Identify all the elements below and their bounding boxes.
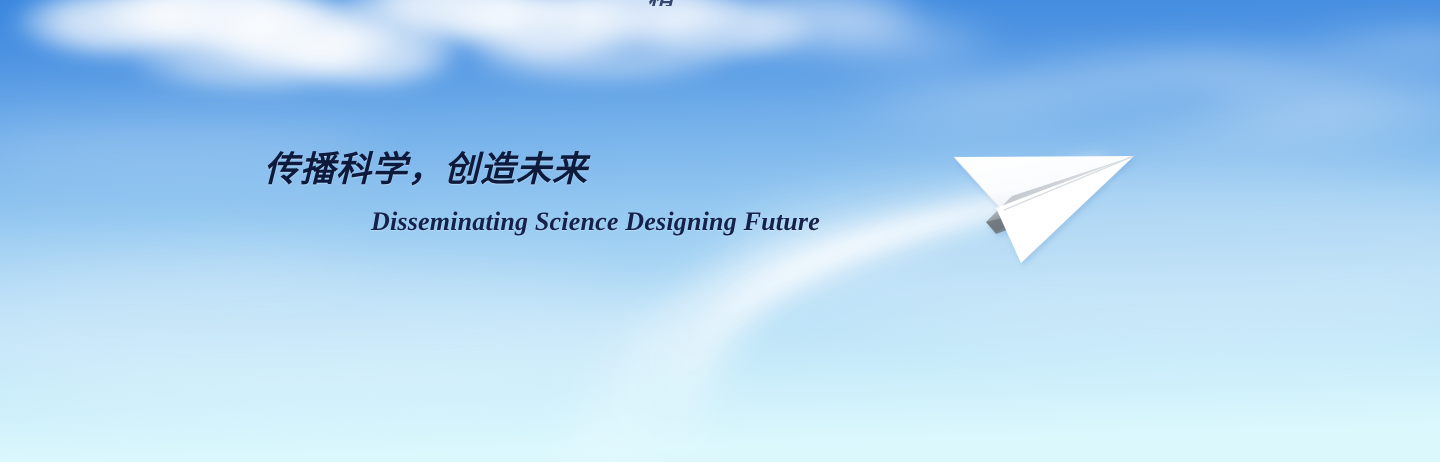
sky-banner: 精 传播科学，创造未来 Disseminating Science Design… [0, 0, 1440, 462]
sky-background [0, 0, 1440, 462]
